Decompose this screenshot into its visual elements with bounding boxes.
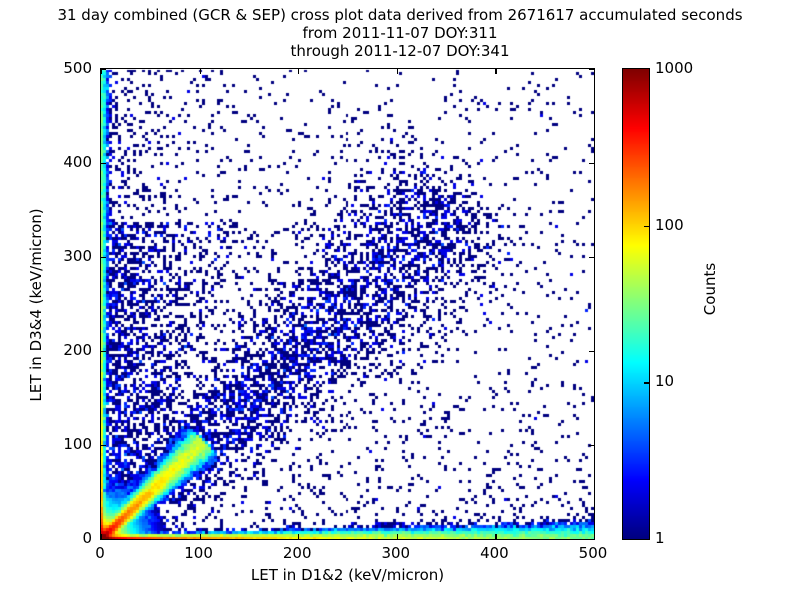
chart-title: 31 day combined (GCR & SEP) cross plot d…	[0, 6, 800, 60]
y-tick-500	[589, 69, 594, 70]
x-tick-300	[397, 534, 398, 539]
figure-canvas: 31 day combined (GCR & SEP) cross plot d…	[0, 0, 800, 600]
y-tick-200	[589, 351, 594, 352]
y-tick-0	[589, 539, 594, 540]
x-tick-300	[397, 69, 398, 74]
y-tick-100	[589, 445, 594, 446]
colorbar-tick-label-1: 1	[655, 529, 665, 547]
y-tick-label-0: 0	[32, 529, 92, 547]
colorbar-gradient	[623, 69, 649, 539]
x-tick-label-200: 200	[267, 544, 327, 562]
title-line-3: through 2011-12-07 DOY:341	[0, 42, 800, 60]
y-tick-0	[101, 539, 106, 540]
x-tick-500	[594, 69, 595, 74]
x-tick-label-500: 500	[563, 544, 623, 562]
y-tick-300	[589, 257, 594, 258]
y-tick-400	[589, 163, 594, 164]
title-line-1: 31 day combined (GCR & SEP) cross plot d…	[0, 6, 800, 24]
x-tick-200	[298, 69, 299, 74]
x-axis-label: LET in D1&2 (keV/micron)	[100, 566, 595, 584]
x-tick-200	[298, 534, 299, 539]
y-tick-500	[101, 69, 106, 70]
colorbar-label: Counts	[701, 179, 719, 399]
colorbar-tick-label-1000: 1000	[655, 59, 693, 77]
y-tick-label-500: 500	[32, 59, 92, 77]
x-tick-label-300: 300	[366, 544, 426, 562]
x-tick-400	[495, 69, 496, 74]
x-tick-400	[495, 534, 496, 539]
y-tick-100	[101, 445, 106, 446]
y-axis-label: LET in D3&4 (keV/micron)	[27, 155, 45, 455]
x-tick-label-400: 400	[464, 544, 524, 562]
x-tick-100	[200, 69, 201, 74]
colorbar[interactable]	[622, 68, 650, 540]
plot-area[interactable]	[100, 68, 595, 540]
colorbar-tick-100	[644, 226, 649, 227]
colorbar-tick-10	[644, 382, 649, 383]
y-tick-400	[101, 163, 106, 164]
colorbar-tick-label-100: 100	[655, 216, 684, 234]
title-line-2: from 2011-11-07 DOY:311	[0, 24, 800, 42]
y-tick-300	[101, 257, 106, 258]
x-tick-label-100: 100	[169, 544, 229, 562]
x-tick-500	[594, 534, 595, 539]
heatmap-canvas	[101, 69, 594, 539]
x-tick-100	[200, 534, 201, 539]
y-tick-200	[101, 351, 106, 352]
colorbar-tick-label-10: 10	[655, 372, 674, 390]
